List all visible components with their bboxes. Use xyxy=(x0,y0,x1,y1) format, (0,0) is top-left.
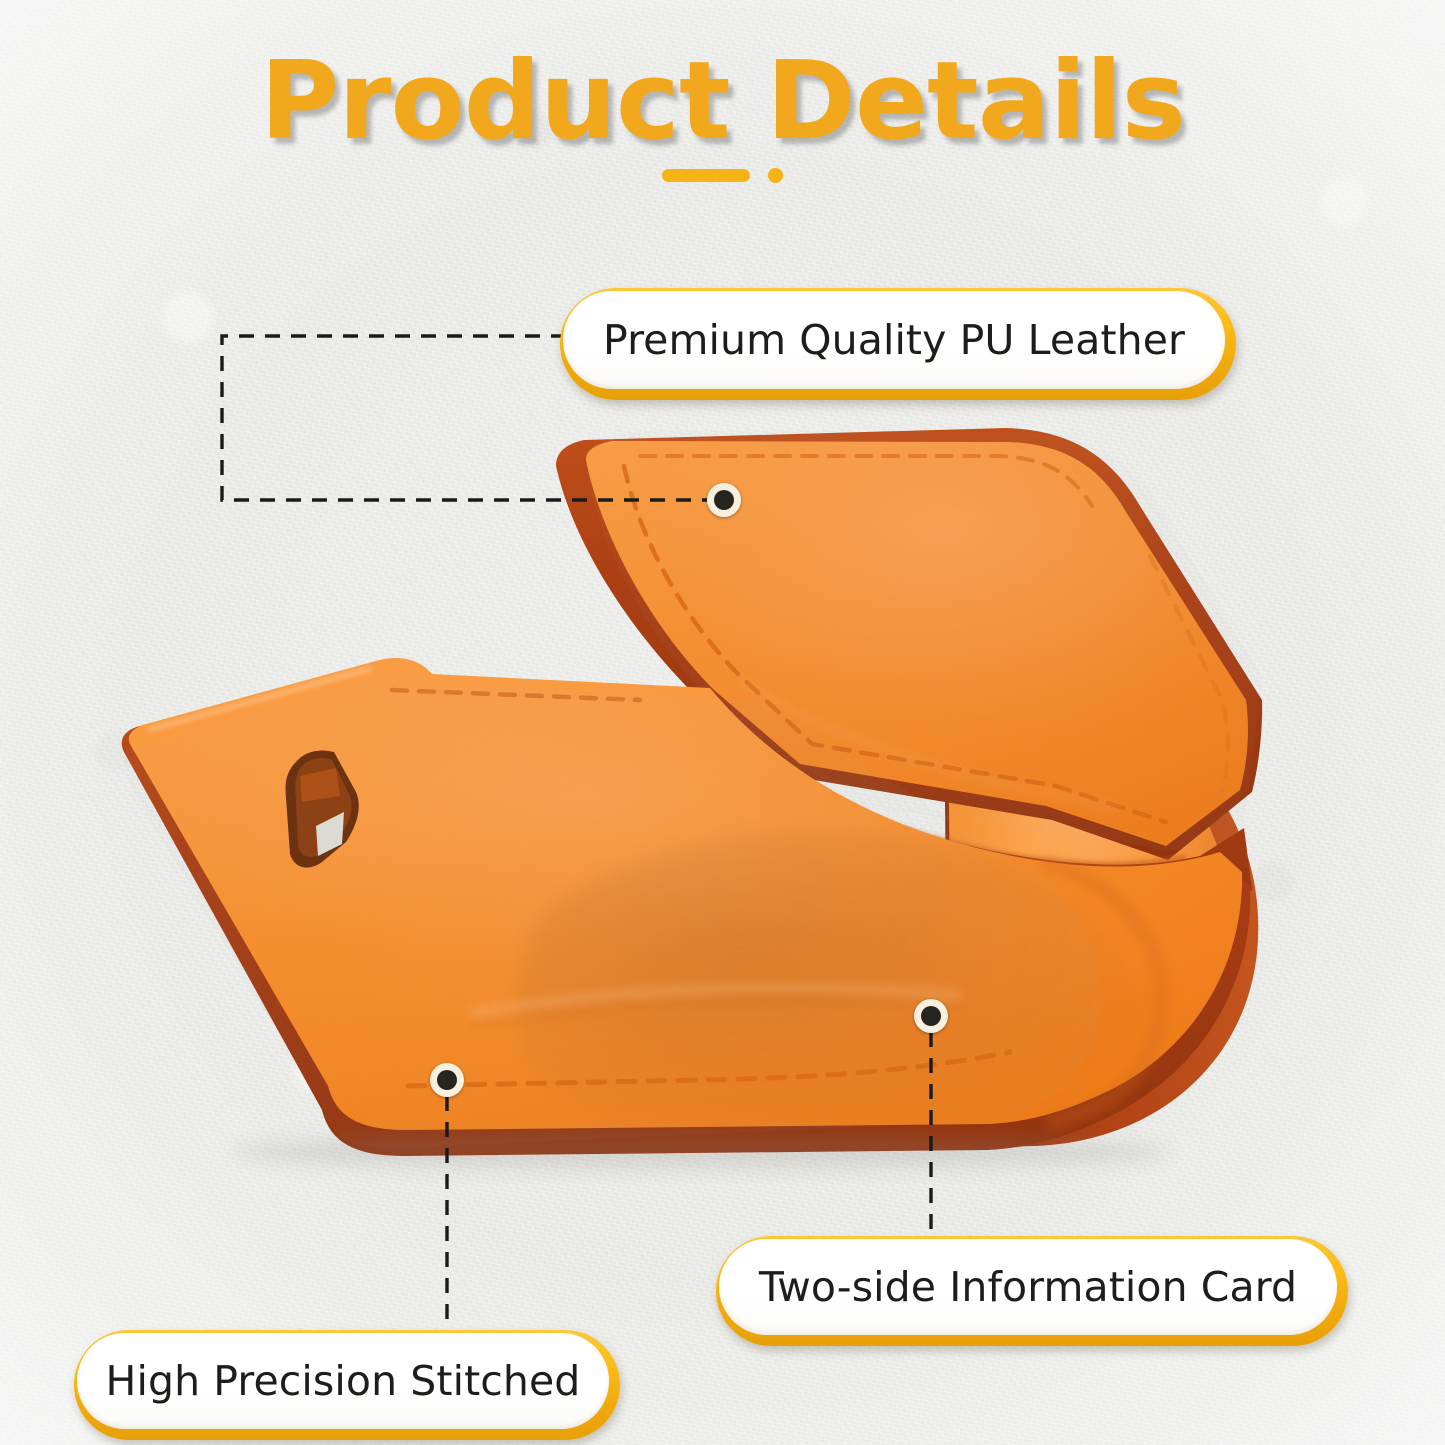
marker-precision-stitch[interactable] xyxy=(430,1063,464,1097)
callout-precision-stitch[interactable]: High Precision Stitched xyxy=(74,1330,620,1440)
callout-information-card-label: Two-side Information Card xyxy=(733,1267,1323,1308)
callout-premium-leather-label: Premium Quality PU Leather xyxy=(577,320,1211,361)
background-vignette xyxy=(0,0,1445,1445)
product-details-infographic: Product Details xyxy=(0,0,1445,1445)
callout-information-card[interactable]: Two-side Information Card xyxy=(716,1236,1348,1346)
divider-dot-icon xyxy=(768,168,783,183)
callout-premium-leather[interactable]: Premium Quality PU Leather xyxy=(560,288,1236,400)
divider-bar-icon xyxy=(662,169,750,182)
page-title: Product Details xyxy=(0,44,1445,161)
callout-information-card-inner: Two-side Information Card xyxy=(719,1239,1337,1335)
marker-information-card[interactable] xyxy=(914,999,948,1033)
callout-precision-stitch-inner: High Precision Stitched xyxy=(77,1333,609,1429)
callout-precision-stitch-label: High Precision Stitched xyxy=(80,1361,607,1402)
marker-premium-leather[interactable] xyxy=(707,483,741,517)
callout-premium-leather-inner: Premium Quality PU Leather xyxy=(563,291,1225,389)
title-divider xyxy=(0,168,1445,183)
